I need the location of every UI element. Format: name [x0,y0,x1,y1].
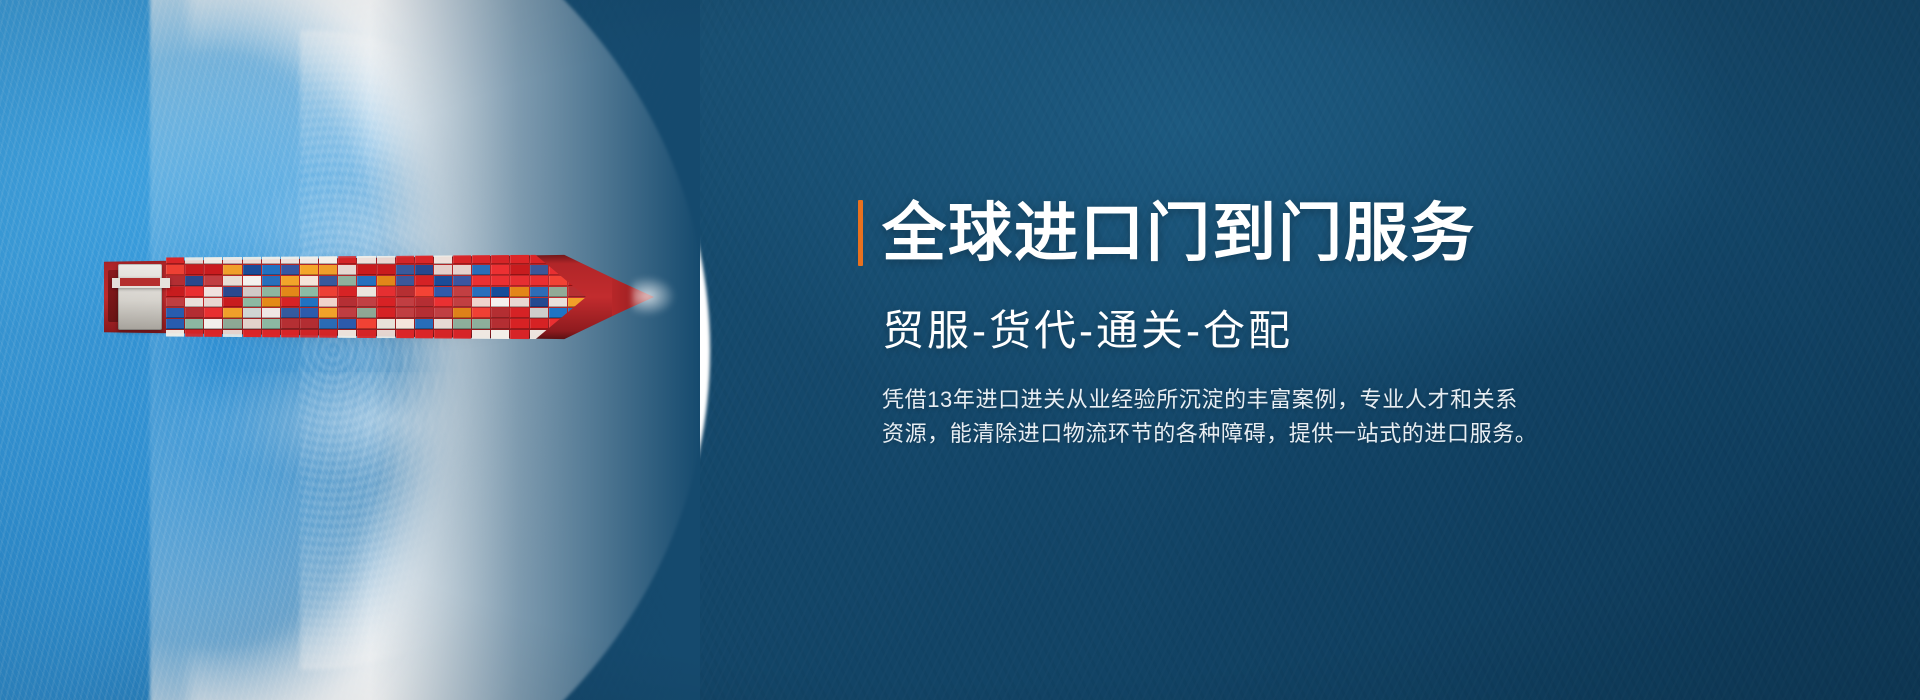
hero-text-block: 全球进口门到门服务 贸服-货代-通关-仓配 凭借13年进口进关从业经验所沉淀的丰… [858,196,1718,451]
bow-wave [632,268,710,324]
subtitle: 贸服-货代-通关-仓配 [882,308,1718,354]
accent-bar [858,200,863,266]
description-line-2: 资源，能清除进口物流环节的各种障碍，提供一站式的进口服务。 [882,417,1602,451]
description: 凭借13年进口进关从业经验所沉淀的丰富案例，专业人才和关系 资源，能清除进口物流… [882,383,1602,451]
description-line-1: 凭借13年进口进关从业经验所沉淀的丰富案例，专业人才和关系 [882,383,1602,417]
ship-funnel-band [120,278,160,286]
headline-row: 全球进口门到门服务 [858,196,1718,270]
page-title: 全球进口门到门服务 [882,201,1476,265]
container-stacks [166,254,586,340]
container-ship [104,248,652,346]
hero-banner: 全球进口门到门服务 贸服-货代-通关-仓配 凭借13年进口进关从业经验所沉淀的丰… [0,0,1920,700]
ship-superstructure [118,264,162,330]
